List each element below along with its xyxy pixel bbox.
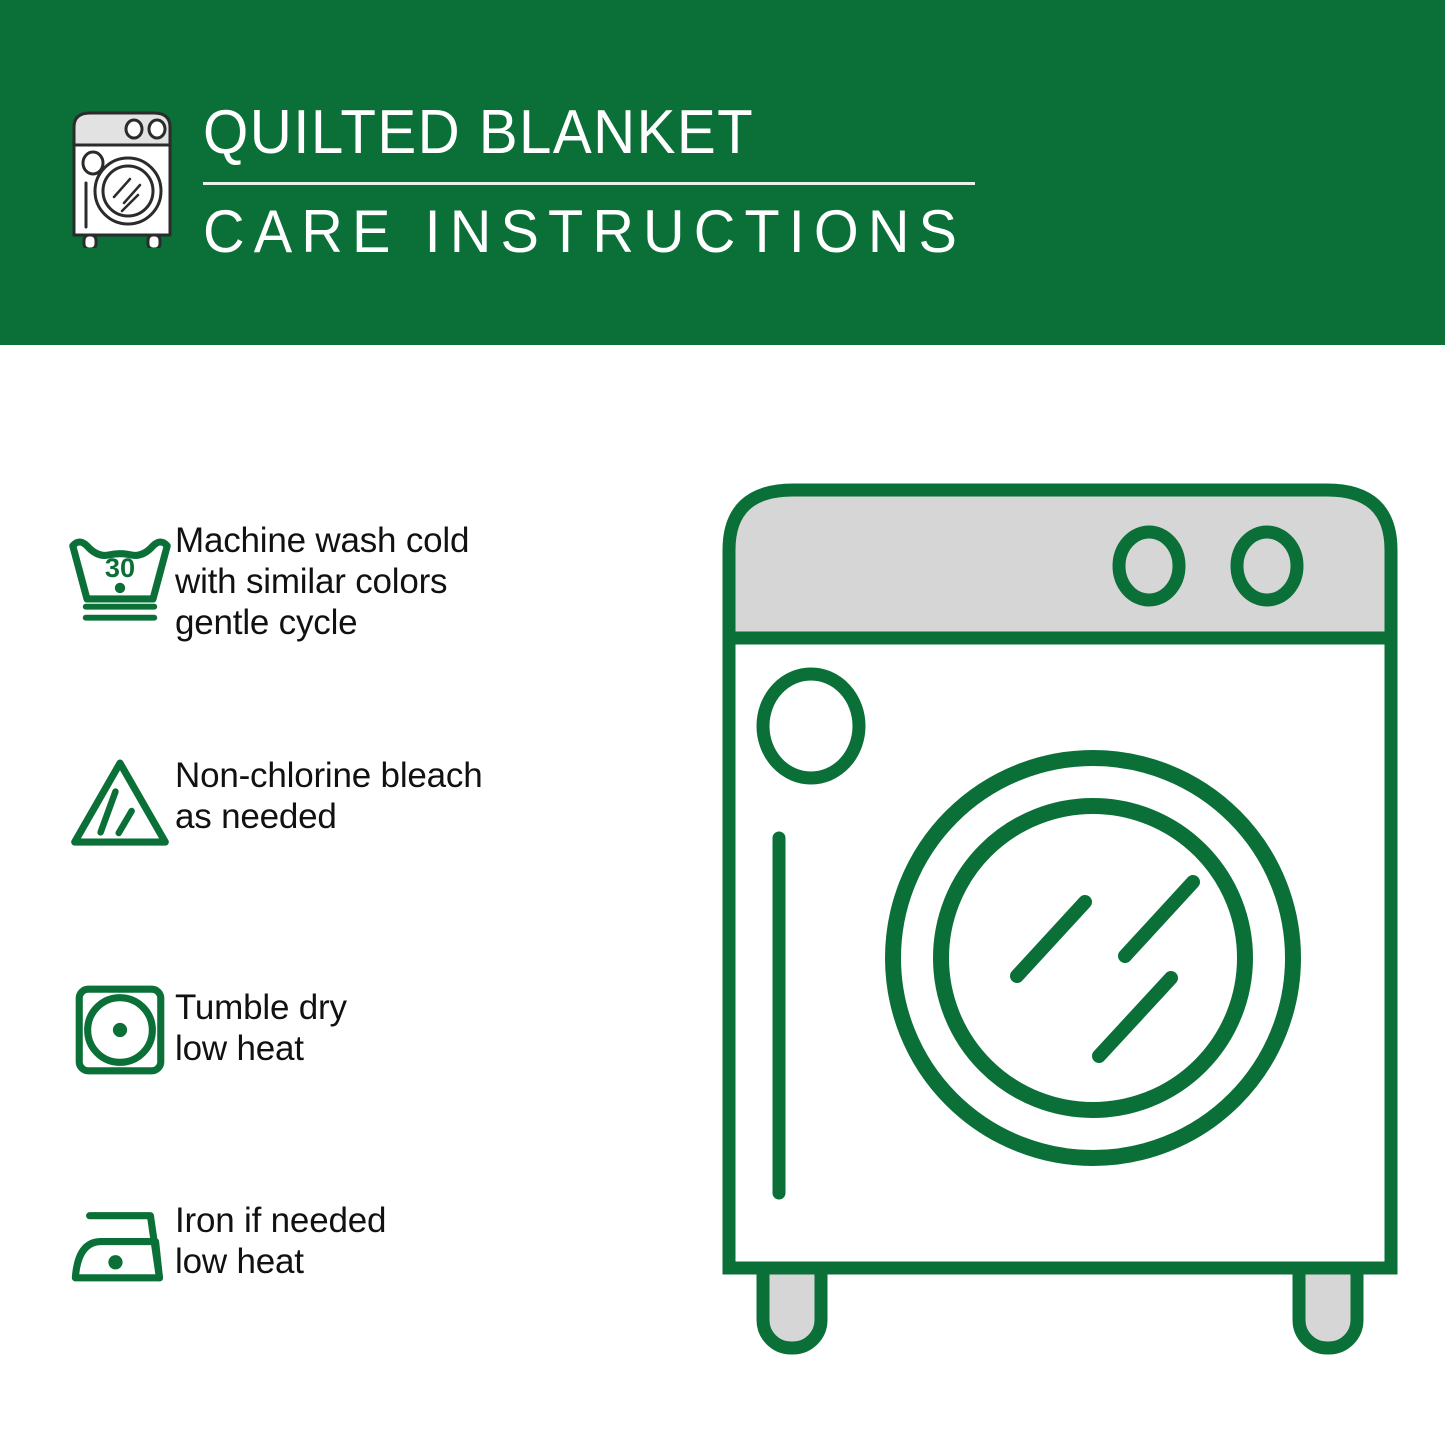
care-instructions-page: QUILTED BLANKET CARE INSTRUCTIONS 30 <box>0 0 1445 1445</box>
care-label-bleach: Non-chlorine bleach as needed <box>175 725 483 837</box>
care-label-line: gentle cycle <box>175 602 469 643</box>
washing-machine-icon <box>64 103 182 248</box>
care-label-line: Non-chlorine bleach <box>175 755 483 796</box>
care-label-line: as needed <box>175 796 483 837</box>
care-row-bleach: Non-chlorine bleach as needed <box>0 725 483 875</box>
care-label-line: Iron if needed <box>175 1200 386 1241</box>
wash-tub-30-gentle-icon: 30 <box>0 500 175 650</box>
care-label-wash: Machine wash cold with similar colors ge… <box>175 500 469 643</box>
care-label-line: low heat <box>175 1241 386 1282</box>
care-row-iron: Iron if needed low heat <box>0 1175 386 1325</box>
title-divider <box>203 182 975 185</box>
care-label-line: Machine wash cold <box>175 520 469 561</box>
header-title-block: QUILTED BLANKET CARE INSTRUCTIONS <box>203 98 983 265</box>
care-row-tumble-dry: Tumble dry low heat <box>0 955 347 1105</box>
care-label-line: low heat <box>175 1028 347 1069</box>
care-label-line: Tumble dry <box>175 987 347 1028</box>
care-row-wash: 30 Machine wash cold with similar colors… <box>0 500 469 650</box>
large-washing-machine-icon <box>715 478 1405 1358</box>
wash-temperature-value: 30 <box>105 552 135 583</box>
tumble-dry-low-icon <box>0 955 175 1105</box>
care-label-iron: Iron if needed low heat <box>175 1175 386 1282</box>
page-title: QUILTED BLANKET <box>203 98 936 168</box>
iron-low-heat-icon <box>0 1175 175 1325</box>
header-banner: QUILTED BLANKET CARE INSTRUCTIONS <box>0 0 1445 345</box>
care-label-line: with similar colors <box>175 561 469 602</box>
non-chlorine-bleach-triangle-icon <box>0 725 175 875</box>
page-subtitle: CARE INSTRUCTIONS <box>203 199 952 265</box>
care-label-tumble-dry: Tumble dry low heat <box>175 955 347 1069</box>
